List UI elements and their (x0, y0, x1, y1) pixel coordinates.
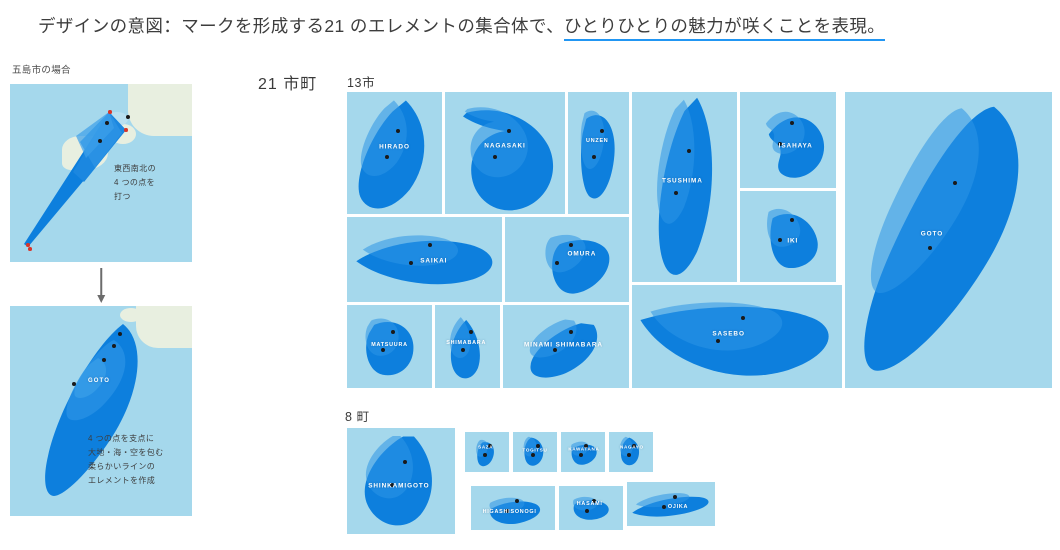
map-cell-nagayo[interactable]: NAGAYO (609, 432, 653, 472)
map-city-dot (126, 115, 130, 119)
map-city-dot (928, 246, 932, 250)
map-area-label: GOTO (921, 231, 943, 238)
map-city-dot (98, 139, 102, 143)
section-total-label: 21 市町 (258, 70, 317, 94)
map-area-label: SAZA (478, 445, 493, 450)
map-city-dot (585, 509, 589, 513)
mark-element-shape (740, 191, 836, 282)
map-cell-shimabara[interactable]: SHIMABARA (435, 305, 500, 388)
mark-element-shape (347, 428, 455, 534)
mark-element-shape (445, 92, 565, 214)
map-city-dot (428, 243, 432, 247)
towns-grid: SHINKAMIGOTOSAZATOGITSUKAWATANANAGAYOHIG… (347, 428, 667, 534)
map-area-label: NAGASAKI (484, 142, 525, 149)
map-area-label: HASAMI (577, 501, 603, 507)
map-city-dot (515, 499, 519, 503)
map-city-dot (72, 382, 76, 386)
step2-map[interactable]: GOTO 4 つの点を支点に 大地・海・空を包む 柔らかいラインの エレメントを… (10, 306, 192, 516)
map-city-dot (953, 181, 957, 185)
map-city-dot (531, 453, 535, 457)
mark-element-shape (609, 432, 653, 472)
map-city-dot (469, 330, 473, 334)
map-city-dot (102, 358, 106, 362)
step2-note: 4 つの点を支点に 大地・海・空を包む 柔らかいラインの エレメントを作成 (88, 432, 164, 488)
section-towns-label: 8 町 (345, 406, 370, 425)
page-header: デザインの意図：マークを形成する21 のエレメントの集合体で、ひとりひとりの魅力… (0, 0, 1060, 52)
section-cities-label: 13市 (347, 72, 375, 91)
map-area-label: ISAHAYA (779, 142, 813, 149)
map-city-dot (673, 495, 677, 499)
anchor-point-east (124, 128, 128, 132)
map-area-label: MINAMI SHIMABARA (524, 341, 603, 348)
map-area-label: GOTO (88, 378, 110, 384)
map-city-dot (600, 129, 604, 133)
map-city-dot (555, 261, 559, 265)
flow-arrow-container (10, 262, 192, 306)
step1-mark-polygon (10, 84, 192, 262)
map-city-dot (687, 149, 691, 153)
map-area-label: OJIKA (668, 504, 688, 510)
anchor-point-southwest (26, 243, 30, 247)
mark-element-shape (347, 92, 442, 214)
page-title: デザインの意図：マークを形成する21 のエレメントの集合体で、ひとりひとりの魅力… (38, 13, 885, 38)
map-area-label: OMURA (568, 251, 597, 258)
map-area-label: MATSUURA (371, 342, 408, 348)
down-arrow-icon (100, 268, 102, 296)
map-area-label: HIGASHISONOGI (483, 509, 537, 515)
mark-element-shape (740, 92, 836, 188)
map-cell-sasebo[interactable]: SASEBO (632, 285, 842, 388)
map-area-label: SHINKAMIGOTO (368, 483, 429, 490)
map-area-label: IKI (787, 238, 798, 245)
map-cell-isahaya[interactable]: ISAHAYA (740, 92, 836, 188)
map-cell-matsuura[interactable]: MATSUURA (347, 305, 432, 388)
map-cell-shinkamigoto[interactable]: SHINKAMIGOTO (347, 428, 455, 534)
map-city-dot (118, 332, 122, 336)
map-cell-unzen[interactable]: UNZEN (568, 92, 629, 214)
map-city-dot (579, 453, 583, 457)
map-city-dot (403, 460, 407, 464)
map-cell-nagasaki[interactable]: NAGASAKI (445, 92, 565, 214)
anchor-point-north (108, 110, 112, 114)
mark-element-shape (845, 92, 1052, 388)
map-area-label: TSUSHIMA (662, 178, 703, 185)
map-cell-hasami[interactable]: HASAMI (559, 486, 623, 530)
map-cell-togitsu[interactable]: TOGITSU (513, 432, 557, 472)
map-area-label: NAGAYO (620, 445, 644, 450)
step1-map[interactable]: 東西南北の 4 つの点を 打つ (10, 84, 192, 262)
map-city-dot (627, 453, 631, 457)
mark-element-shape (505, 217, 629, 302)
map-cell-goto[interactable]: GOTO (845, 92, 1052, 388)
left-column-label: 五島市の場合 (12, 62, 192, 76)
map-area-label: SASEBO (712, 331, 744, 338)
map-cell-higashisonogi[interactable]: HIGASHISONOGI (471, 486, 555, 530)
map-city-dot (674, 191, 678, 195)
map-cell-iki[interactable]: IKI (740, 191, 836, 282)
map-cell-ojika[interactable]: OJIKA (627, 482, 715, 526)
page-title-plain: デザインの意図：マークを形成する21 のエレメントの集合体で、 (38, 16, 564, 36)
map-area-label: KAWATANA (568, 446, 599, 451)
mark-element-shape (632, 92, 737, 282)
mark-element-shape (559, 486, 623, 530)
map-area-label: UNZEN (586, 138, 608, 144)
map-area-label: SAIKAI (420, 258, 447, 265)
map-cell-saza[interactable]: SAZA (465, 432, 509, 472)
map-cell-kawatana[interactable]: KAWATANA (561, 432, 605, 472)
step1-note: 東西南北の 4 つの点を 打つ (114, 162, 156, 204)
map-area-label: TOGITSU (523, 448, 548, 453)
left-explainer-column: 五島市の場合 東西南北の 4 つの点を 打つ (10, 62, 192, 516)
map-cell-omura[interactable]: OMURA (505, 217, 629, 302)
map-cell-hirado[interactable]: HIRADO (347, 92, 442, 214)
map-city-dot (112, 344, 116, 348)
page-title-underlined: ひとりひとりの魅力が咲くことを表現。 (564, 16, 885, 41)
map-area-label: SHIMABARA (446, 340, 486, 346)
map-city-dot (483, 453, 487, 457)
mark-element-shape (561, 432, 605, 472)
cities-grid: HIRADONAGASAKIUNZENTSUSHIMAISAHAYAIKIGOT… (347, 92, 1052, 388)
map-cell-minami-shimabara[interactable]: MINAMI SHIMABARA (503, 305, 629, 388)
map-area-label: HIRADO (379, 143, 410, 150)
map-city-dot (790, 121, 794, 125)
map-cell-tsushima[interactable]: TSUSHIMA (632, 92, 737, 282)
map-city-dot (105, 121, 109, 125)
mark-element-shape (465, 432, 509, 472)
map-city-dot (569, 330, 573, 334)
mark-element-shape (568, 92, 629, 214)
anchor-point-south (28, 247, 32, 251)
mark-element-shape (435, 305, 500, 388)
map-city-dot (716, 339, 720, 343)
map-cell-saikai[interactable]: SAIKAI (347, 217, 502, 302)
